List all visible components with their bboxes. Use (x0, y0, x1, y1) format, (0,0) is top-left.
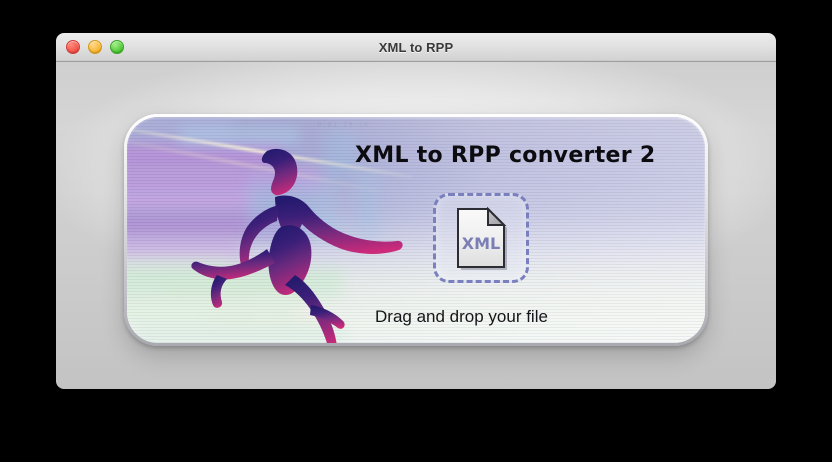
file-dropzone[interactable]: XML (433, 193, 529, 283)
bg-streak (127, 213, 309, 239)
bg-streak (163, 285, 313, 295)
dropzone-instruction: Drag and drop your file (375, 307, 548, 327)
app-window: XML to RPP (56, 33, 776, 389)
window-controls (66, 33, 124, 61)
screen-root: XML to RPP (0, 0, 832, 462)
bg-streak (127, 257, 233, 273)
bg-streak (323, 129, 357, 175)
bg-streak (127, 239, 241, 261)
bg-streak (127, 143, 283, 169)
main-panel[interactable]: 0:02.29 16 (127, 117, 705, 343)
bg-streak (127, 269, 343, 299)
bg-timecode-label: 0:02.29 16 (317, 121, 369, 129)
xml-file-icon: XML (455, 206, 507, 270)
minimize-button-icon[interactable] (88, 40, 102, 54)
bg-streak (127, 299, 293, 323)
bg-streak (137, 323, 347, 343)
window-body: 0:02.29 16 (56, 62, 776, 389)
main-panel-bezel: 0:02.29 16 (124, 114, 708, 346)
bg-streak (127, 191, 255, 211)
bg-streak (287, 217, 343, 233)
window-title: XML to RPP (379, 40, 453, 55)
bg-streak (179, 127, 299, 145)
close-button-icon[interactable] (66, 40, 80, 54)
bg-streak (127, 169, 323, 191)
maximize-button-icon[interactable] (110, 40, 124, 54)
page-title: XML to RPP converter 2 (355, 143, 655, 168)
window-titlebar[interactable]: XML to RPP (56, 33, 776, 62)
bg-streak (355, 169, 381, 239)
bg-streak (207, 313, 327, 321)
bg-streak (247, 177, 335, 239)
light-beam (127, 133, 382, 192)
bg-streak (127, 117, 233, 143)
xml-icon-label: XML (462, 234, 500, 253)
